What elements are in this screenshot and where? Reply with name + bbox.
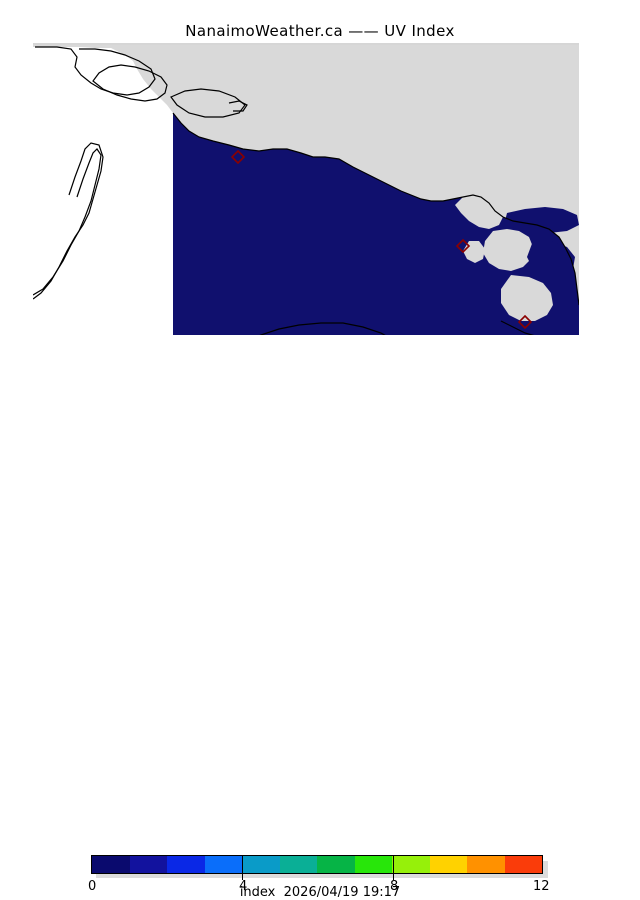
colorbar-band-6 xyxy=(317,856,355,873)
colorbar-band-1 xyxy=(130,856,168,873)
coastline-west-channel xyxy=(33,143,103,299)
uv-index-map-page: NanaimoWeather.ca —— UV Index xyxy=(0,0,640,480)
colorbar-band-8 xyxy=(392,856,430,873)
colorbar-band-4 xyxy=(242,856,280,873)
colorbar-band-11 xyxy=(505,856,543,873)
colorbar-band-10 xyxy=(467,856,505,873)
map-plot-area[interactable] xyxy=(33,45,579,335)
colorbar-band-7 xyxy=(355,856,393,873)
colorbar-band-0 xyxy=(92,856,130,873)
colorbar-tick-8 xyxy=(393,855,394,880)
colorbar-band-3 xyxy=(205,856,243,873)
coastline-west-channel-inner xyxy=(33,149,101,295)
legend-caption: index 2026/04/19 19:17 xyxy=(0,885,640,900)
colorbar-band-9 xyxy=(430,856,468,873)
map-canvas[interactable] xyxy=(33,45,579,335)
colorbar-band-2 xyxy=(167,856,205,873)
legend: 0 4 8 12 index 2026/04/19 19:17 xyxy=(0,425,640,480)
colorbar[interactable] xyxy=(91,855,543,874)
colorbar-tick-4 xyxy=(242,855,243,880)
page-title: NanaimoWeather.ca —— UV Index xyxy=(0,22,640,40)
colorbar-band-5 xyxy=(280,856,318,873)
